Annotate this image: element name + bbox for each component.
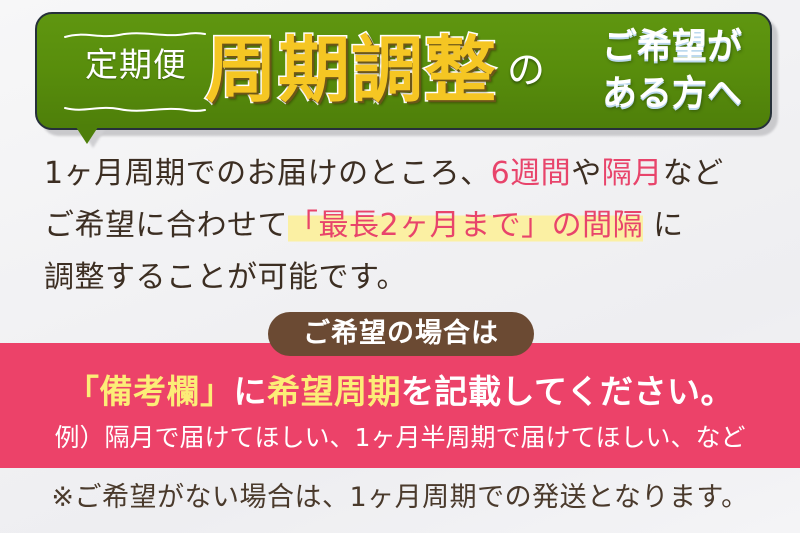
- body-line-3: 調整することが可能です。: [44, 252, 764, 304]
- condition-badge: ご希望の場合は: [268, 312, 534, 356]
- header-subtitle-line2: ある方へ: [582, 71, 762, 118]
- header-tail: [74, 124, 100, 144]
- body-line2-text-b: に: [643, 208, 684, 243]
- header-title-main: 周期調整: [205, 28, 497, 112]
- header-title: 周期調整 の: [205, 20, 545, 120]
- wavy-rule-top-icon: [64, 30, 206, 40]
- body-line1-text-a: 1ヶ月周期でのお届けのところ、: [44, 156, 491, 191]
- instruction-text-b: を記載してください。: [401, 372, 734, 411]
- body-line2-highlight: 「最長2ヶ月まで」の間隔: [288, 208, 643, 243]
- header-subtitle-line1: ご希望が: [582, 24, 762, 71]
- body-line1-accent-a: 6週間: [491, 156, 572, 191]
- instruction-headline: 「備考欄」に希望周期を記載してください。: [0, 369, 800, 415]
- instruction-band: 「備考欄」に希望周期を記載してください。 例）隔月で届けてほしい、1ヶ月半周期で…: [0, 343, 800, 468]
- subscription-badge: 定期便: [62, 30, 210, 112]
- subscription-badge-label: 定期便: [62, 42, 210, 88]
- body-line1-accent-b: 隔月: [602, 156, 663, 191]
- instruction-text-a: に: [233, 372, 267, 411]
- promo-banner: 定期便 周期調整 の ご希望が ある方へ 1ヶ月周期でのお届けのところ、6週間や…: [0, 0, 800, 533]
- header-bubble: 定期便 周期調整 の ご希望が ある方へ: [0, 0, 800, 145]
- wavy-rule-bottom-icon: [64, 104, 206, 114]
- body-line-1: 1ヶ月周期でのお届けのところ、6週間や隔月など: [44, 148, 764, 200]
- body-line-2: ご希望に合わせて「最長2ヶ月まで」の間隔 に: [44, 200, 764, 252]
- instruction-accent-a: 「備考欄」: [66, 372, 234, 411]
- header-subtitle: ご希望が ある方へ: [582, 24, 762, 118]
- body-paragraph: 1ヶ月周期でのお届けのところ、6週間や隔月など ご希望に合わせて「最長2ヶ月まで…: [44, 148, 764, 304]
- body-line1-text-b: や: [571, 156, 602, 191]
- body-line2-text-a: ご希望に合わせて: [44, 208, 288, 243]
- header-title-particle: の: [507, 28, 545, 112]
- body-line1-text-c: など: [663, 156, 724, 191]
- instruction-accent-b: 希望周期: [267, 372, 401, 411]
- instruction-example: 例）隔月で届けてほしい、1ヶ月半周期で届けてほしい、など: [0, 419, 800, 457]
- footer-note: ※ご希望がない場合は、1ヶ月周期での発送となります。: [0, 478, 800, 518]
